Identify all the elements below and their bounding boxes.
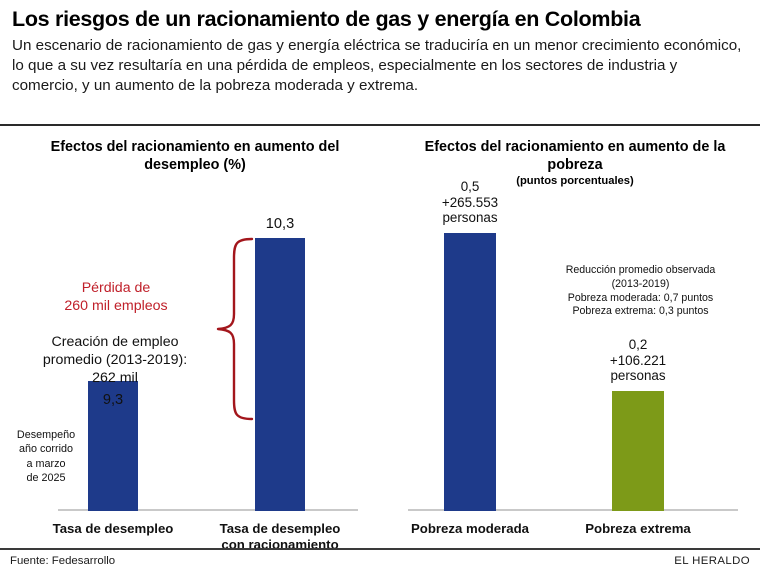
annotation-perdida-empleos: Pérdida de 260 mil empleos <box>18 280 214 316</box>
annotation-reduccion-line-1: Reducción promedio observada <box>528 264 753 278</box>
category-label-line-1: Tasa de desempleo <box>215 521 345 537</box>
annotation-creacion-line-2: promedio (2013-2019): <box>12 352 218 370</box>
chart-panel-desempleo: Efectos del racionamiento en aumento del… <box>0 130 390 540</box>
bar-pobreza-moderada[interactable] <box>444 233 496 511</box>
annotation-reduccion-line-3: Pobreza moderada: 0,7 puntos <box>528 292 753 306</box>
bar-tasa-desempleo[interactable] <box>88 381 138 511</box>
bar-note-line-2: año corrido <box>8 442 84 456</box>
chart-panel-pobreza: Efectos del racionamiento en aumento de … <box>390 130 760 540</box>
annotation-reduccion-line-4: Pobreza extrema: 0,3 puntos <box>528 305 753 319</box>
plot-area-desempleo: 9,3 10,3 Desempeño año corrido a marzo d… <box>0 130 390 540</box>
bar-value-people-word: personas <box>422 210 518 226</box>
brace-icon <box>214 236 256 422</box>
bar-note-line-1: Desempeño <box>8 428 84 442</box>
bar-value-people-count: +265.553 <box>422 195 518 211</box>
annotation-creacion-line-3: 262 mil <box>12 370 218 388</box>
bar-value-tasa-desempleo-racionamiento: 10,3 <box>235 216 325 233</box>
bar-note-line-4: de 2025 <box>8 471 84 485</box>
chart-title-desempleo: Efectos del racionamiento en aumento del… <box>0 139 390 174</box>
annotation-reduccion-promedio: Reducción promedio observada (2013-2019)… <box>528 264 753 319</box>
annotation-creacion-empleo: Creación de empleo promedio (2013-2019):… <box>12 334 218 387</box>
page-standfirst: Un escenario de racionamiento de gas y e… <box>0 31 760 96</box>
header: Los riesgos de un racionamiento de gas y… <box>0 0 760 96</box>
bar-value-people-word: personas <box>590 368 686 384</box>
annotation-creacion-line-1: Creación de empleo <box>12 334 218 352</box>
plot-area-pobreza: 0,5 +265.553 personas 0,2 +106.221 perso… <box>390 130 760 540</box>
chart-title-pobreza: Efectos del racionamiento en aumento de … <box>390 139 760 174</box>
category-label-line-1: Tasa de desempleo <box>48 521 178 537</box>
x-axis-line-pobreza <box>408 509 738 511</box>
annotation-perdida-line-2: 260 mil empleos <box>18 298 214 316</box>
page-title: Los riesgos de un racionamiento de gas y… <box>0 0 760 31</box>
infographic-page: Los riesgos de un racionamiento de gas y… <box>0 0 760 574</box>
category-label-pobreza-moderada: Pobreza moderada <box>410 521 530 537</box>
category-label-line-1: Pobreza extrema <box>578 521 698 537</box>
x-axis-line-desempleo <box>58 509 358 511</box>
category-label-pobreza-extrema: Pobreza extrema <box>578 521 698 537</box>
source-label: Fuente: Fedesarrollo <box>10 555 115 567</box>
bar-value-pobreza-extrema: 0,2 +106.221 personas <box>590 337 686 384</box>
brand-label: EL HERALDO <box>674 555 750 567</box>
category-label-line-1: Pobreza moderada <box>410 521 530 537</box>
bar-value-tasa-desempleo: 9,3 <box>68 392 158 409</box>
footer-divider <box>0 548 760 550</box>
annotation-perdida-line-1: Pérdida de <box>18 280 214 298</box>
category-label-line-2: con racionamiento <box>215 537 345 553</box>
bar-pobreza-extrema[interactable] <box>612 391 664 511</box>
bar-value-number: 0,2 <box>590 337 686 353</box>
footer: Fuente: Fedesarrollo EL HERALDO <box>0 552 760 574</box>
bar-note-desempeno: Desempeño año corrido a marzo de 2025 <box>8 428 84 486</box>
bar-note-line-3: a marzo <box>8 457 84 471</box>
chart-subtitle-pobreza: (puntos porcentuales) <box>390 175 760 188</box>
header-divider <box>0 124 760 126</box>
annotation-reduccion-line-2: (2013-2019) <box>528 278 753 292</box>
bar-tasa-desempleo-racionamiento[interactable] <box>255 238 305 511</box>
bar-value-people-count: +106.221 <box>590 353 686 369</box>
category-label-tasa-desempleo: Tasa de desempleo <box>48 521 178 537</box>
